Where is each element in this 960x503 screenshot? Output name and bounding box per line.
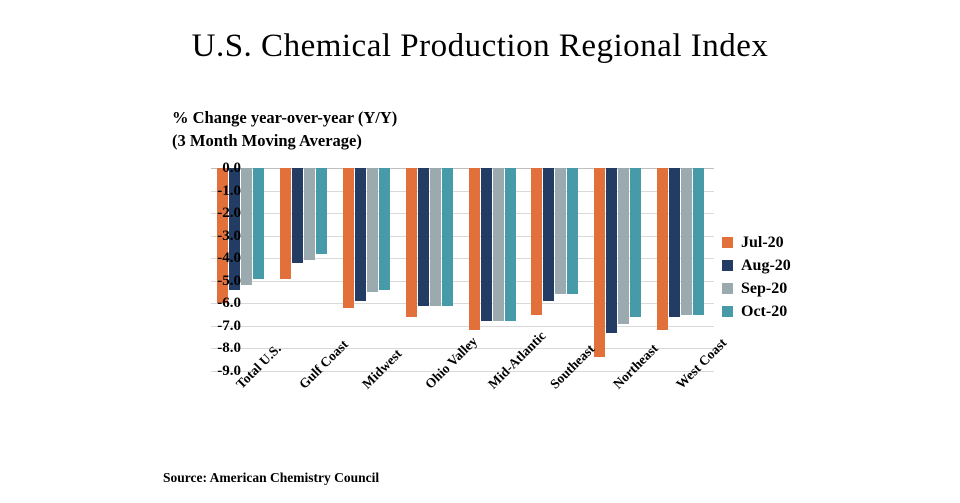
bar [555, 168, 566, 294]
bar [493, 168, 504, 321]
y-axis-tick-label: -1.0 [181, 184, 241, 199]
legend-item[interactable]: Sep-20 [722, 277, 791, 300]
bar [594, 168, 605, 357]
bar [618, 168, 629, 324]
bar [505, 168, 516, 321]
bar-group [657, 168, 720, 371]
bar [367, 168, 378, 292]
legend-swatch-icon [722, 283, 733, 294]
legend-item[interactable]: Aug-20 [722, 254, 791, 277]
bar [657, 168, 668, 330]
bar-group [406, 168, 469, 371]
y-axis-tick-label: 0.0 [181, 161, 241, 176]
bar [469, 168, 480, 330]
page-title: U.S. Chemical Production Regional Index [0, 28, 960, 65]
bar [418, 168, 429, 306]
chart-page: U.S. Chemical Production Regional Index … [0, 0, 960, 503]
bar [253, 168, 264, 279]
y-axis-tick-label: -2.0 [181, 206, 241, 221]
bar [379, 168, 390, 290]
legend-item-label: Sep-20 [741, 280, 787, 298]
chart-legend: Jul-20Aug-20Sep-20Oct-20 [722, 231, 791, 323]
axis-caption: % Change year-over-year (Y/Y) (3 Month M… [172, 106, 592, 153]
legend-swatch-icon [722, 237, 733, 248]
y-axis-tick-label: -6.0 [181, 296, 241, 311]
legend-item[interactable]: Jul-20 [722, 231, 791, 254]
y-axis-tick-label: -8.0 [181, 341, 241, 356]
y-axis-tick-label: -9.0 [181, 364, 241, 379]
bar-group [343, 168, 406, 371]
axis-caption-line-1: % Change year-over-year (Y/Y) [172, 106, 592, 129]
bar [681, 168, 692, 315]
axis-caption-line-2: (3 Month Moving Average) [172, 129, 592, 152]
bar [355, 168, 366, 301]
source-note: Source: American Chemistry Council [163, 470, 379, 486]
bar-group [280, 168, 343, 371]
bar [442, 168, 453, 306]
legend-item[interactable]: Oct-20 [722, 300, 791, 323]
bar [304, 168, 315, 260]
bar [543, 168, 554, 301]
y-axis-tick-label: -4.0 [181, 251, 241, 266]
y-axis-tick-label: -7.0 [181, 319, 241, 334]
legend-item-label: Jul-20 [741, 234, 784, 252]
bar-group [594, 168, 657, 371]
bar [567, 168, 578, 294]
bar [630, 168, 641, 317]
bar [406, 168, 417, 317]
bar [343, 168, 354, 308]
bar [316, 168, 327, 254]
bar [292, 168, 303, 263]
legend-swatch-icon [722, 306, 733, 317]
y-axis-tick-label: -3.0 [181, 229, 241, 244]
bar [481, 168, 492, 321]
bar [693, 168, 704, 315]
bar [280, 168, 291, 279]
y-axis-tick-label: -5.0 [181, 274, 241, 289]
legend-item-label: Aug-20 [741, 257, 791, 275]
legend-item-label: Oct-20 [741, 303, 787, 321]
bar [669, 168, 680, 317]
bar [241, 168, 252, 285]
bar-group [469, 168, 532, 371]
bar [531, 168, 542, 315]
legend-swatch-icon [722, 260, 733, 271]
bar [430, 168, 441, 306]
bar [606, 168, 617, 333]
